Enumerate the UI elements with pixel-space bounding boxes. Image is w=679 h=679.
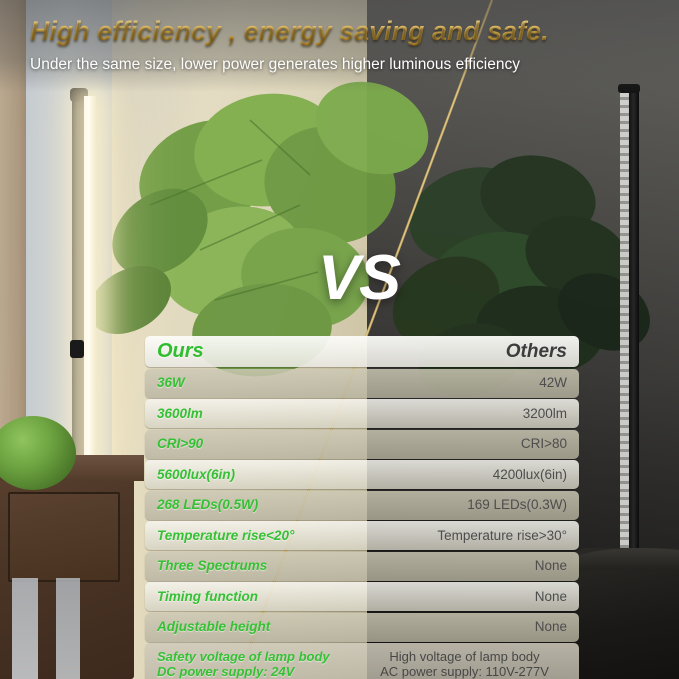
table-row: CRI>90 CRI>80	[145, 430, 579, 459]
cell-others: None	[362, 619, 567, 635]
cell-others: 42W	[362, 375, 567, 391]
table-row: 3600lm 3200lm	[145, 399, 579, 428]
table-row: 268 LEDs(0.5W) 169 LEDs(0.3W)	[145, 491, 579, 520]
table-row: 36W 42W	[145, 369, 579, 398]
cell-ours: 3600lm	[157, 406, 362, 422]
cell-others: None	[362, 589, 567, 605]
cell-others: Temperature rise>30°	[362, 528, 567, 544]
comparison-table: Ours Others 36W 42W 3600lm 3200lm CRI>90…	[145, 336, 579, 679]
cell-ours: 36W	[157, 375, 362, 391]
cell-ours: Safety voltage of lamp body DC power sup…	[157, 650, 362, 679]
product-comparison-image: High efficiency , energy saving and safe…	[0, 0, 679, 679]
cell-others: 3200lm	[362, 406, 567, 422]
table-row: Safety voltage of lamp body DC power sup…	[145, 643, 579, 679]
chair-gap-left	[12, 578, 38, 679]
table-row: Temperature rise<20° Temperature rise>30…	[145, 521, 579, 550]
cell-ours: Three Spectrums	[157, 558, 362, 574]
page-subtitle: Under the same size, lower power generat…	[30, 56, 520, 74]
cell-others: None	[362, 558, 567, 574]
column-header-ours: Ours	[157, 340, 362, 363]
chair-back-panel	[8, 492, 120, 582]
cell-ours: CRI>90	[157, 436, 362, 452]
page-title: High efficiency , energy saving and safe…	[30, 16, 549, 47]
chair-gap-right	[56, 578, 80, 679]
table-row: Adjustable height None	[145, 613, 579, 642]
cell-others: 4200lux(6in)	[362, 467, 567, 483]
cell-others: High voltage of lamp body AC power suppl…	[362, 650, 567, 679]
table-row: Three Spectrums None	[145, 552, 579, 581]
cell-ours: Adjustable height	[157, 619, 362, 635]
table-row: 5600lux(6in) 4200lux(6in)	[145, 460, 579, 489]
cell-ours: Timing function	[157, 589, 362, 605]
cell-ours: Temperature rise<20°	[157, 528, 362, 544]
cell-ours: 5600lux(6in)	[157, 467, 362, 483]
cell-others: 169 LEDs(0.3W)	[362, 497, 567, 513]
cell-ours: 268 LEDs(0.5W)	[157, 497, 362, 513]
table-row: Timing function None	[145, 582, 579, 611]
column-header-others: Others	[362, 341, 567, 363]
our-lamp-knob	[70, 340, 84, 358]
table-header-row: Ours Others	[145, 336, 579, 367]
vs-badge: VS	[318, 247, 400, 310]
header-banner: High efficiency , energy saving and safe…	[0, 0, 679, 92]
cell-others: CRI>80	[362, 436, 567, 452]
